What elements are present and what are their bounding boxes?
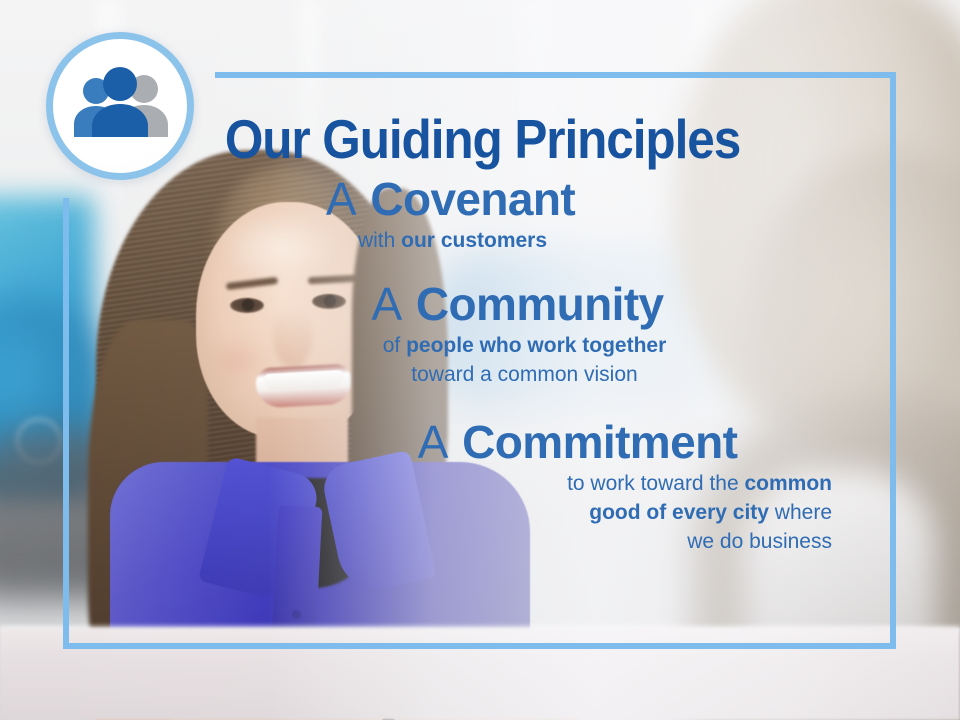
principle-keyword: Commitment — [462, 416, 737, 468]
principle-commitment: A Commitment to work toward the common g… — [115, 415, 850, 556]
principle-subtext-line: toward a common vision — [199, 360, 850, 389]
principle-heading: A Commitment — [115, 415, 850, 469]
principle-keyword: Covenant — [370, 173, 575, 225]
principle-article: A — [418, 416, 450, 468]
principle-subtext-line: to work toward the common — [115, 469, 832, 498]
principle-keyword: Community — [416, 278, 664, 330]
page-title: Our Guiding Principles — [152, 110, 814, 168]
principle-subtext-line: of people who work together — [199, 331, 850, 360]
principle-subtext: of people who work together toward a com… — [115, 331, 850, 389]
principle-covenant: A Covenant with our customers — [115, 172, 850, 255]
principle-article: A — [371, 278, 403, 330]
principle-heading: A Community — [115, 277, 850, 331]
principle-subtext-line: we do business — [115, 527, 832, 556]
principle-article: A — [326, 173, 358, 225]
poster-content: Our Guiding Principles A Covenant with o… — [63, 72, 896, 649]
principle-community: A Community of people who work together … — [115, 277, 850, 389]
principle-heading: A Covenant — [115, 172, 850, 226]
principle-subtext: with our customers — [115, 226, 850, 255]
principle-subtext-line: good of every city where — [115, 498, 832, 527]
principle-subtext-line: with our customers — [115, 226, 790, 255]
poster-canvas: FLOW AUTOMOTIVE FLOW — [0, 0, 960, 720]
principle-subtext: to work toward the common good of every … — [115, 469, 850, 556]
